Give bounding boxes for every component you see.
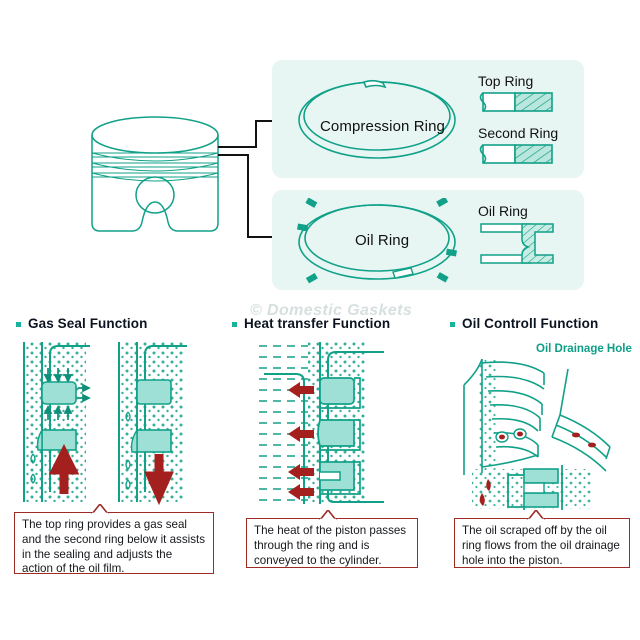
caption-oil-control: The oil scraped off by the oil ring flow…: [454, 518, 630, 568]
oil-control-illustration: [452, 355, 638, 510]
heat-transfer-illustration: [244, 342, 419, 510]
caption-heat-transfer: The heat of the piston passes through th…: [246, 518, 418, 568]
caption-text-gas-seal: The top ring provides a gas seal and the…: [22, 518, 205, 575]
compression-ring-label: Compression Ring: [320, 118, 445, 135]
caption-gas-seal: The top ring provides a gas seal and the…: [14, 512, 214, 574]
section-heading-gas-seal: Gas Seal Function: [28, 316, 147, 331]
section-heading-heat-transfer: Heat transfer Function: [244, 316, 390, 331]
gas-seal-illustration: [12, 342, 212, 508]
diagram-canvas: Compression Ring Top Ring Second Ring: [0, 0, 640, 640]
oil-drainage-hole-label: Oil Drainage Hole: [536, 343, 632, 355]
section-heading-oil-control: Oil Controll Function: [462, 316, 598, 331]
callout-tip-icon: [91, 504, 109, 514]
callout-tip-icon: [527, 510, 545, 520]
oil-ring-cross-section: [477, 219, 561, 271]
oil-ring-label: Oil Ring: [355, 232, 409, 249]
caption-text-oil-control: The oil scraped off by the oil ring flow…: [462, 524, 620, 567]
bullet-icon-heat-transfer: [232, 322, 237, 327]
caption-text-heat-transfer: The heat of the piston passes through th…: [254, 524, 406, 567]
second-ring-cross-section: [477, 142, 557, 168]
callout-tip-icon: [319, 510, 337, 520]
bullet-icon-oil-control: [450, 322, 455, 327]
bullet-icon-gas-seal: [16, 322, 21, 327]
second-ring-label: Second Ring: [478, 125, 558, 141]
top-ring-cross-section: [477, 90, 557, 116]
oil-ring-xs-label: Oil Ring: [478, 203, 528, 219]
top-ring-label: Top Ring: [478, 73, 533, 89]
